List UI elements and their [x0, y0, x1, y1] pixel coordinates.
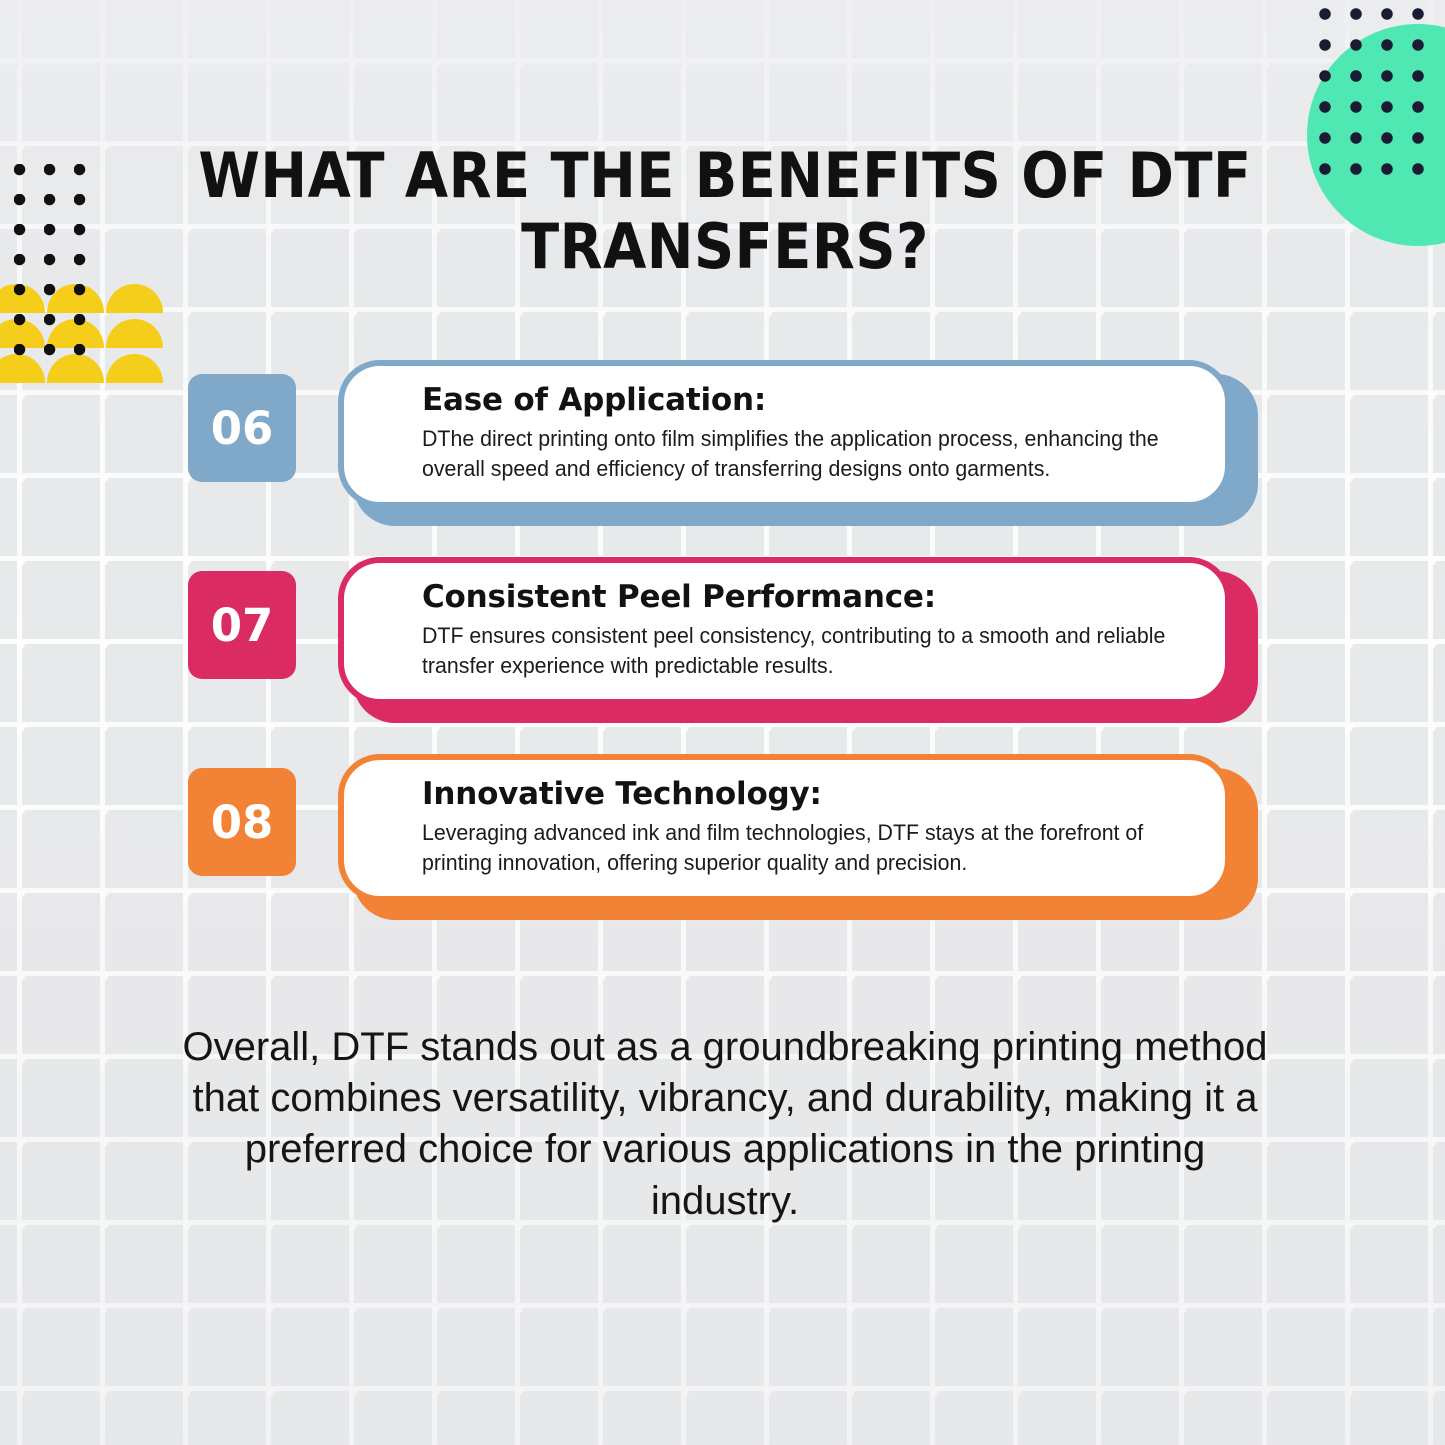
dot-grid-left-decoration [14, 164, 92, 364]
dot-grid-top-right-decoration [1319, 8, 1437, 178]
benefit-row: Consistent Peel Performance: DTF ensures… [188, 549, 1258, 721]
card-number-label: 07 [211, 599, 274, 652]
closing-paragraph: Overall, DTF stands out as a groundbreak… [170, 1022, 1280, 1227]
card-body: DTF ensures consistent peel consistency,… [422, 621, 1172, 680]
card-heading: Ease of Application: [422, 382, 1195, 418]
page-title: WHAT ARE THE BENEFITS OF DTF TRANSFERS? [150, 140, 1300, 283]
benefit-card: Innovative Technology: Leveraging advanc… [338, 754, 1231, 902]
card-number-label: 08 [211, 796, 274, 849]
card-body: Leveraging advanced ink and film technol… [422, 818, 1172, 877]
card-heading: Innovative Technology: [422, 776, 1195, 812]
card-heading: Consistent Peel Performance: [422, 579, 1195, 615]
card-number-badge: 07 [188, 571, 296, 679]
infographic-canvas: WHAT ARE THE BENEFITS OF DTF TRANSFERS? … [0, 0, 1445, 1445]
card-number-badge: 06 [188, 374, 296, 482]
benefit-card: Ease of Application: DThe direct printin… [338, 360, 1231, 508]
card-body: DThe direct printing onto film simplifie… [422, 424, 1172, 483]
benefit-row: Ease of Application: DThe direct printin… [188, 352, 1258, 524]
benefit-card: Consistent Peel Performance: DTF ensures… [338, 557, 1231, 705]
card-number-badge: 08 [188, 768, 296, 876]
card-number-label: 06 [211, 402, 274, 455]
benefit-row: Innovative Technology: Leveraging advanc… [188, 746, 1258, 918]
